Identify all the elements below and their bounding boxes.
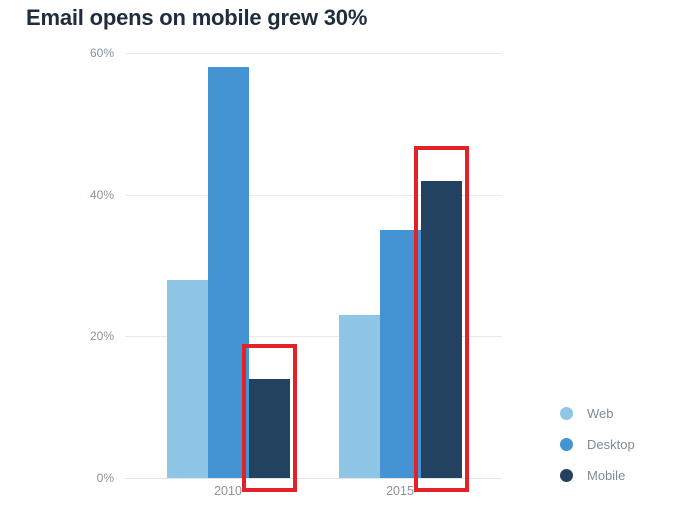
legend-swatch-icon [560, 407, 573, 420]
legend-item-web[interactable]: Web [560, 398, 670, 429]
gridline-0% [125, 478, 502, 479]
y-axis-tick-label: 0% [97, 471, 114, 485]
y-axis: 0%20%40%60% [0, 0, 125, 518]
legend-item-label: Mobile [587, 468, 625, 483]
legend-item-label: Desktop [587, 437, 635, 452]
y-axis-tick-label: 20% [90, 329, 114, 343]
chart-page: Email opens on mobile grew 30% 0%20%40%6… [0, 0, 675, 518]
legend-item-desktop[interactable]: Desktop [560, 429, 670, 460]
legend-swatch-icon [560, 438, 573, 451]
bar-desktop-2010[interactable] [208, 67, 249, 478]
bar-web-2015[interactable] [339, 315, 380, 478]
legend-swatch-icon [560, 469, 573, 482]
bar-mobile-2015[interactable] [421, 181, 462, 479]
bar-desktop-2015[interactable] [380, 230, 421, 478]
x-axis: 20102015 [125, 484, 502, 508]
plot-area [125, 53, 502, 478]
legend-item-label: Web [587, 406, 614, 421]
x-axis-tick-label-2015: 2015 [386, 484, 414, 498]
chart-legend: WebDesktopMobile [560, 398, 670, 491]
bar-mobile-2010[interactable] [249, 379, 290, 478]
legend-item-mobile[interactable]: Mobile [560, 460, 670, 491]
bar-web-2010[interactable] [167, 280, 208, 478]
y-axis-tick-label: 40% [90, 188, 114, 202]
x-axis-tick-label-2010: 2010 [214, 484, 242, 498]
gridline-60% [125, 53, 502, 54]
y-axis-tick-label: 60% [90, 46, 114, 60]
